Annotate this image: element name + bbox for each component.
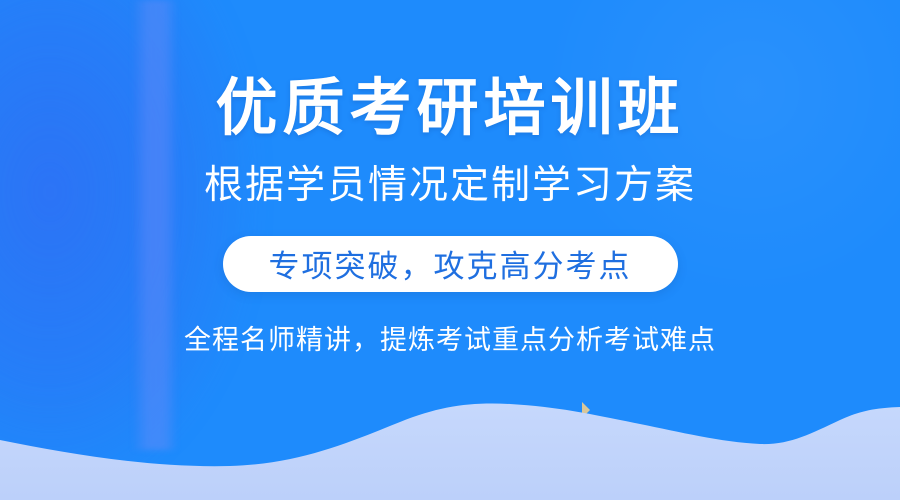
highlight-pill-label: 专项突破，攻克高分考点	[269, 241, 632, 286]
highlight-pill-button[interactable]: 专项突破，攻克高分考点	[223, 236, 678, 292]
banner-content: 优质考研培训班 根据学员情况定制学习方案 专项突破，攻克高分考点 全程名师精讲，…	[0, 0, 900, 500]
banner-footer-text: 全程名师精讲，提炼考试重点分析考试难点	[184, 318, 716, 357]
page-title: 优质考研培训班	[215, 76, 684, 141]
promo-banner: 优质考研培训班 根据学员情况定制学习方案 专项突破，攻克高分考点 全程名师精讲，…	[0, 0, 900, 500]
banner-subtitle: 根据学员情况定制学习方案	[204, 165, 696, 208]
